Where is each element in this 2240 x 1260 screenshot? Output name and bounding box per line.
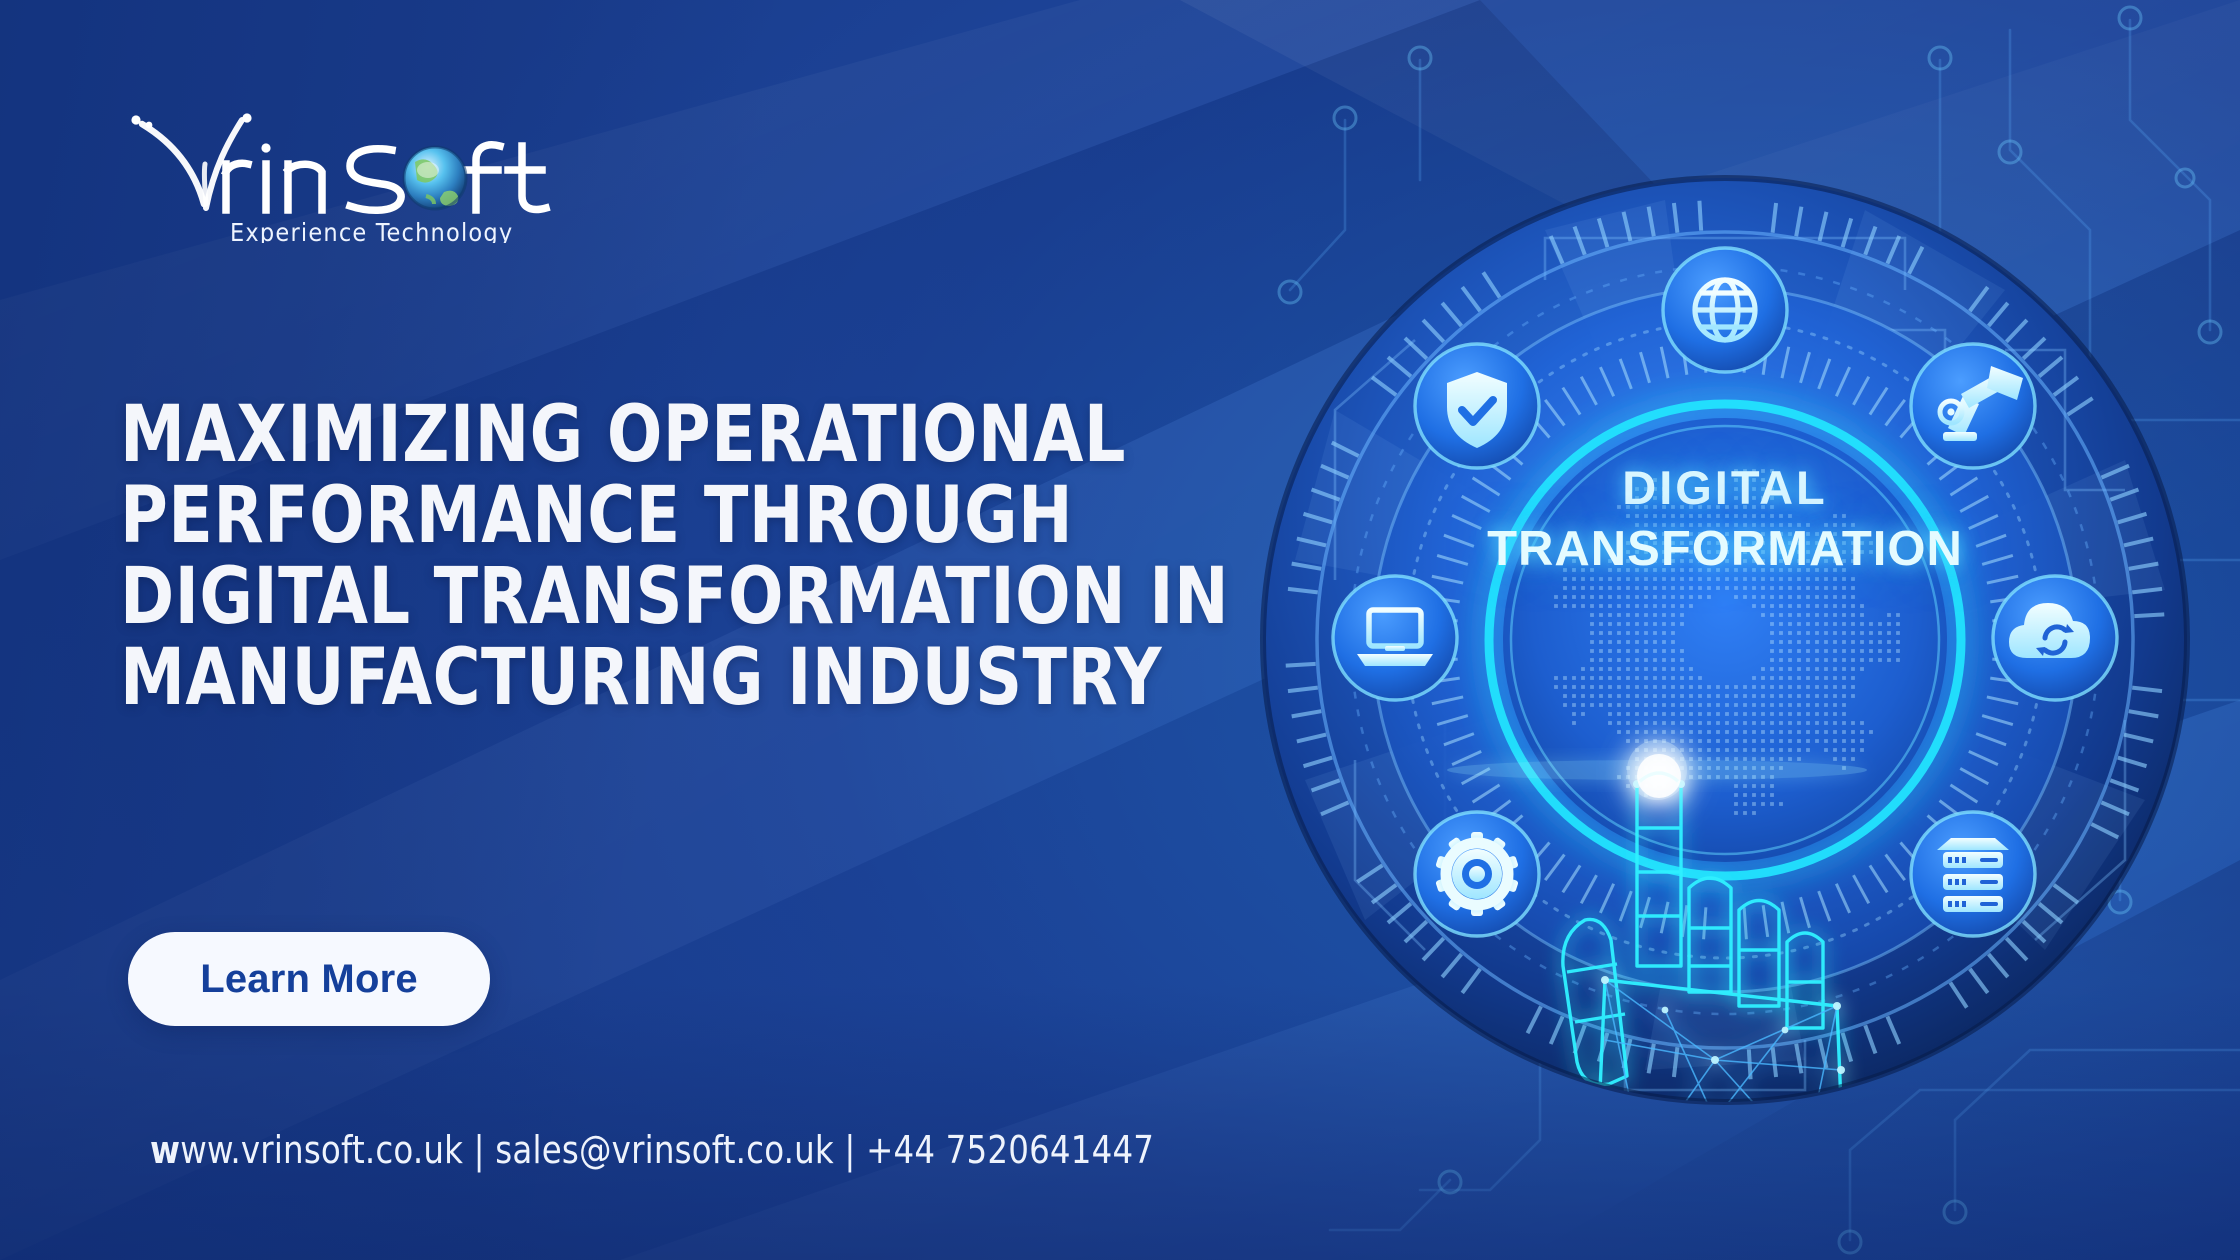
headline-line-1: MAXIMIZING OPERATIONAL	[120, 395, 1162, 476]
footer-phone[interactable]: +44 7520641447	[866, 1128, 1154, 1172]
cloud-sync-icon[interactable]	[1993, 576, 2117, 700]
footer-separator-1: |	[463, 1128, 495, 1172]
gear-icon[interactable]	[1415, 812, 1539, 936]
learn-more-button[interactable]: Learn More	[128, 932, 490, 1026]
logo-tagline: Experience Technology	[230, 218, 513, 243]
globe-icon	[404, 147, 466, 209]
headline-line-4: MANUFACTURING INDUSTRY	[120, 638, 1162, 719]
globe-icon[interactable]	[1663, 248, 1787, 372]
vrinsoft-logo[interactable]: Experience Technology	[110, 108, 570, 243]
robot-arm-icon[interactable]	[1911, 344, 2035, 468]
shield-check-icon[interactable]	[1415, 344, 1539, 468]
footer-website[interactable]: ww.vrinsoft.co.uk	[180, 1128, 463, 1172]
contact-bar: www.vrinsoft.co.uk | sales@vrinsoft.co.u…	[150, 1128, 1154, 1172]
headline-line-2: PERFORMANCE THROUGH	[120, 476, 1162, 557]
page-title: MAXIMIZING OPERATIONAL PERFORMANCE THROU…	[120, 395, 1162, 719]
laptop-icon[interactable]	[1333, 576, 1457, 700]
headline-line-3: DIGITAL TRANSFORMATION IN	[120, 557, 1162, 638]
footer-email[interactable]: sales@vrinsoft.co.uk	[495, 1128, 834, 1172]
marketing-banner: Experience Technology MAXIMIZING OPERATI…	[0, 0, 2240, 1260]
footer-separator-2: |	[834, 1128, 866, 1172]
server-stack-icon[interactable]	[1911, 812, 2035, 936]
digital-transformation-graphic: DIGITAL TRANSFORMATION	[1245, 160, 2205, 1120]
footer-website-initial: w	[150, 1128, 180, 1172]
